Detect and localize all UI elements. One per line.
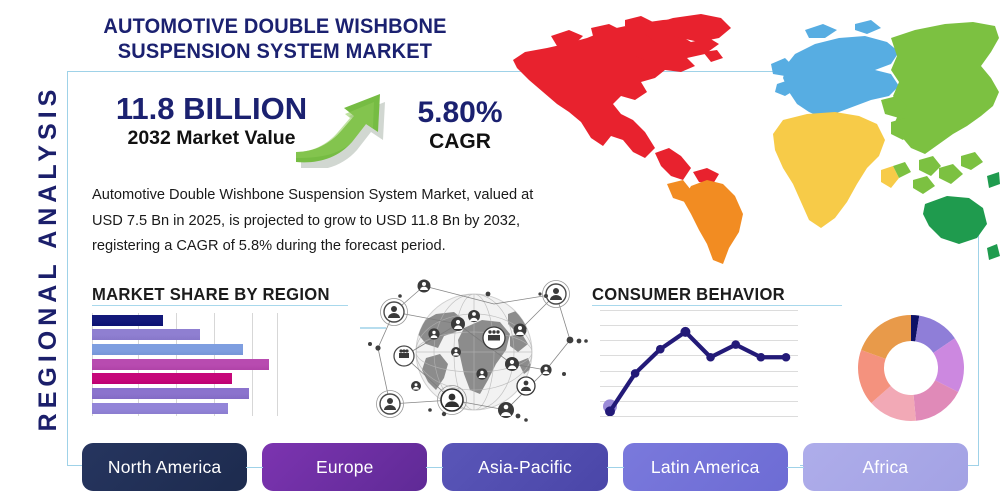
market-value-block: 11.8 BILLION 2032 Market Value	[94, 92, 329, 150]
map-region-europe	[771, 20, 899, 118]
section-rule-consumer-behavior	[592, 305, 842, 306]
map-region-africa	[773, 112, 899, 228]
infographic-root: REGIONAL ANALYSIS AUTOMOTIVE DOUBLE WISH…	[0, 0, 1000, 500]
line-marker	[631, 369, 640, 378]
bar	[92, 329, 200, 340]
bar	[92, 315, 163, 326]
bar-row	[92, 388, 249, 399]
donut-chart-segments	[855, 312, 967, 424]
bar-row	[92, 344, 243, 355]
page-title: AUTOMOTIVE DOUBLE WISHBONE SUSPENSION SY…	[56, 14, 493, 64]
map-region-south-america	[667, 180, 743, 264]
region-tab[interactable]: Europe	[262, 443, 427, 491]
bar-row	[92, 373, 232, 384]
bar	[92, 403, 228, 414]
line-marker	[706, 353, 715, 362]
tab-connector	[246, 467, 263, 468]
world-map	[495, 8, 1000, 276]
line-marker	[605, 406, 615, 416]
bar-row	[92, 315, 163, 326]
bar	[92, 373, 232, 384]
line-marker	[680, 327, 690, 337]
line-marker	[731, 340, 740, 349]
section-header-consumer-behavior: CONSUMER BEHAVIOR	[592, 284, 785, 305]
market-value-caption: 2032 Market Value	[94, 126, 329, 150]
market-value: 11.8 BILLION	[94, 92, 329, 126]
tab-connector	[787, 467, 804, 468]
section-rule-market-share	[92, 305, 348, 306]
bar-chart-market-share	[92, 313, 277, 416]
bar-gridline	[277, 313, 278, 416]
donut-segment	[861, 315, 911, 359]
bar	[92, 359, 269, 370]
section-header-market-share: MARKET SHARE BY REGION	[92, 284, 330, 305]
line-marker	[757, 353, 766, 362]
region-tab[interactable]: Africa	[803, 443, 968, 491]
map-region-asia	[881, 22, 999, 194]
region-tab[interactable]: North America	[82, 443, 247, 491]
bar	[92, 388, 249, 399]
line-marker	[782, 353, 791, 362]
line-chart-consumer-behavior	[600, 310, 798, 416]
line-marker	[656, 345, 665, 354]
line-gridline	[600, 416, 798, 417]
tab-connector	[426, 467, 443, 468]
global-network-connections-icon	[360, 278, 588, 428]
bar-row	[92, 403, 228, 414]
side-label-regional-analysis: REGIONAL ANALYSIS	[28, 58, 68, 458]
bar-row	[92, 359, 269, 370]
growth-arrow-up-icon	[296, 82, 412, 168]
bar-row	[92, 329, 200, 340]
region-tab[interactable]: Latin America	[623, 443, 788, 491]
map-region-north-america	[513, 14, 731, 184]
bar	[92, 344, 243, 355]
map-region-australia	[923, 172, 1000, 260]
tab-connector	[607, 467, 624, 468]
region-tabs: North AmericaEuropeAsia-PacificLatin Ame…	[82, 443, 968, 491]
region-tab[interactable]: Asia-Pacific	[442, 443, 607, 491]
description-text: Automotive Double Wishbone Suspension Sy…	[92, 183, 544, 260]
